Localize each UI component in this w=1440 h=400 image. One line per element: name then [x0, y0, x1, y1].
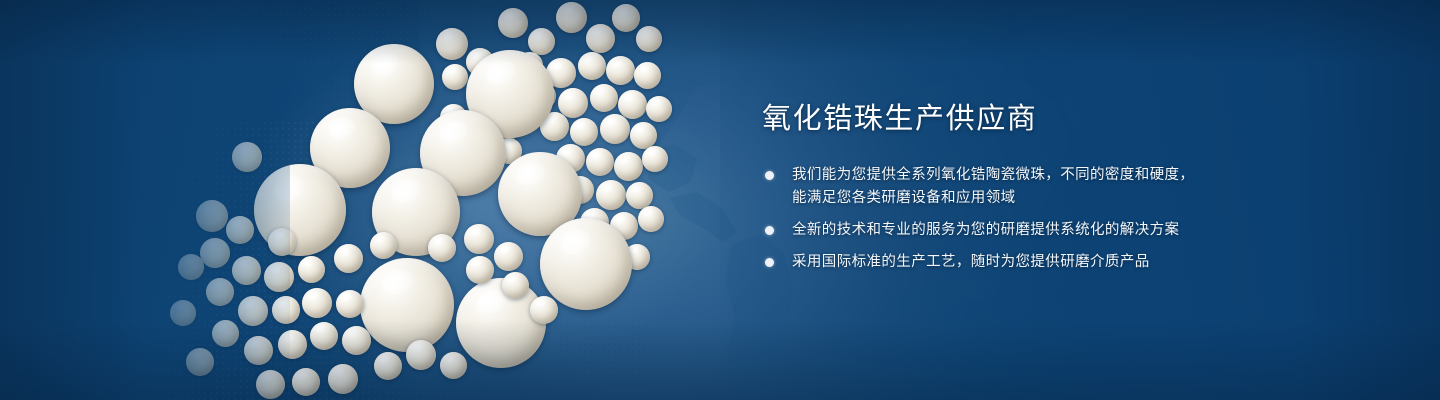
banner-copy-block: 氧化锆珠生产供应商 我们能为您提供全系列氧化锆陶瓷微珠，不同的密度和硬度， 能满…: [762, 104, 1232, 274]
bullet-product-range-line2: 能满足您各类研磨设备和应用领域: [792, 187, 1232, 210]
bullet-international-standard-line1: 采用国际标准的生产工艺，随时为您提供研磨介质产品: [792, 254, 1150, 270]
bullet-product-range-line1: 我们能为您提供全系列氧化锆陶瓷微珠，不同的密度和硬度，: [792, 167, 1194, 183]
hero-banner: 氧化锆珠生产供应商 我们能为您提供全系列氧化锆陶瓷微珠，不同的密度和硬度， 能满…: [0, 0, 1440, 400]
dot-bullet-icon: [765, 171, 774, 180]
banner-headline: 氧化锆珠生产供应商: [762, 104, 1232, 136]
banner-bullet-list: 我们能为您提供全系列氧化锆陶瓷微珠，不同的密度和硬度， 能满足您各类研磨设备和应…: [762, 164, 1232, 274]
dot-bullet-icon: [765, 258, 774, 267]
bullet-technology-service-line1: 全新的技术和专业的服务为您的研磨提供系统化的解决方案: [792, 222, 1179, 238]
bullet-international-standard: 采用国际标准的生产工艺，随时为您提供研磨介质产品: [762, 251, 1232, 274]
bullet-product-range: 我们能为您提供全系列氧化锆陶瓷微珠，不同的密度和硬度， 能满足您各类研磨设备和应…: [762, 164, 1232, 210]
dot-bullet-icon: [765, 226, 774, 235]
bullet-technology-service: 全新的技术和专业的服务为您的研磨提供系统化的解决方案: [762, 219, 1232, 242]
